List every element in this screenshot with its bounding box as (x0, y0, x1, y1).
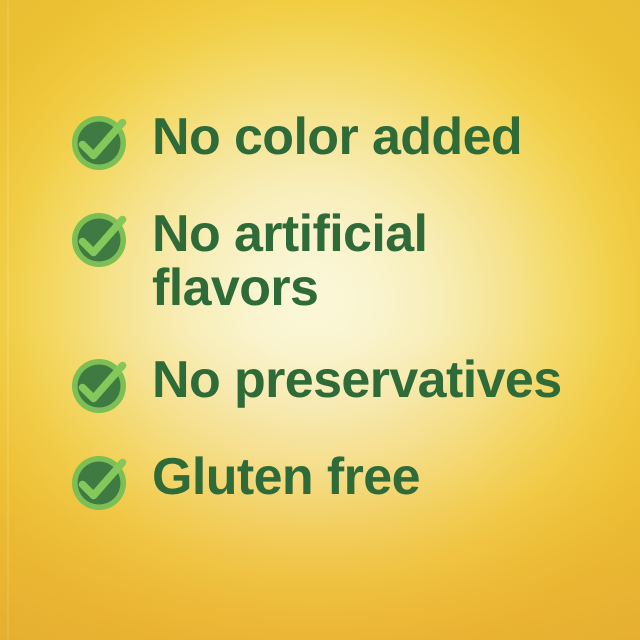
check-circle-icon (70, 357, 128, 415)
check-circle-icon (70, 454, 128, 512)
feature-label: Gluten free (152, 450, 420, 504)
feature-label: No color added (152, 110, 522, 164)
feature-panel: No color added No artificial flavors (0, 0, 640, 640)
feature-item-no-artificial-flavors: No artificial flavors (70, 211, 427, 315)
check-circle-icon (70, 114, 128, 172)
feature-item-no-color-added: No color added (70, 114, 522, 172)
feature-item-no-preservatives: No preservatives (70, 357, 562, 415)
feature-list: No color added No artificial flavors (0, 0, 640, 640)
feature-label: No artificial flavors (152, 207, 427, 315)
feature-item-gluten-free: Gluten free (70, 454, 420, 512)
feature-label: No preservatives (152, 353, 562, 407)
check-circle-icon (70, 211, 128, 269)
